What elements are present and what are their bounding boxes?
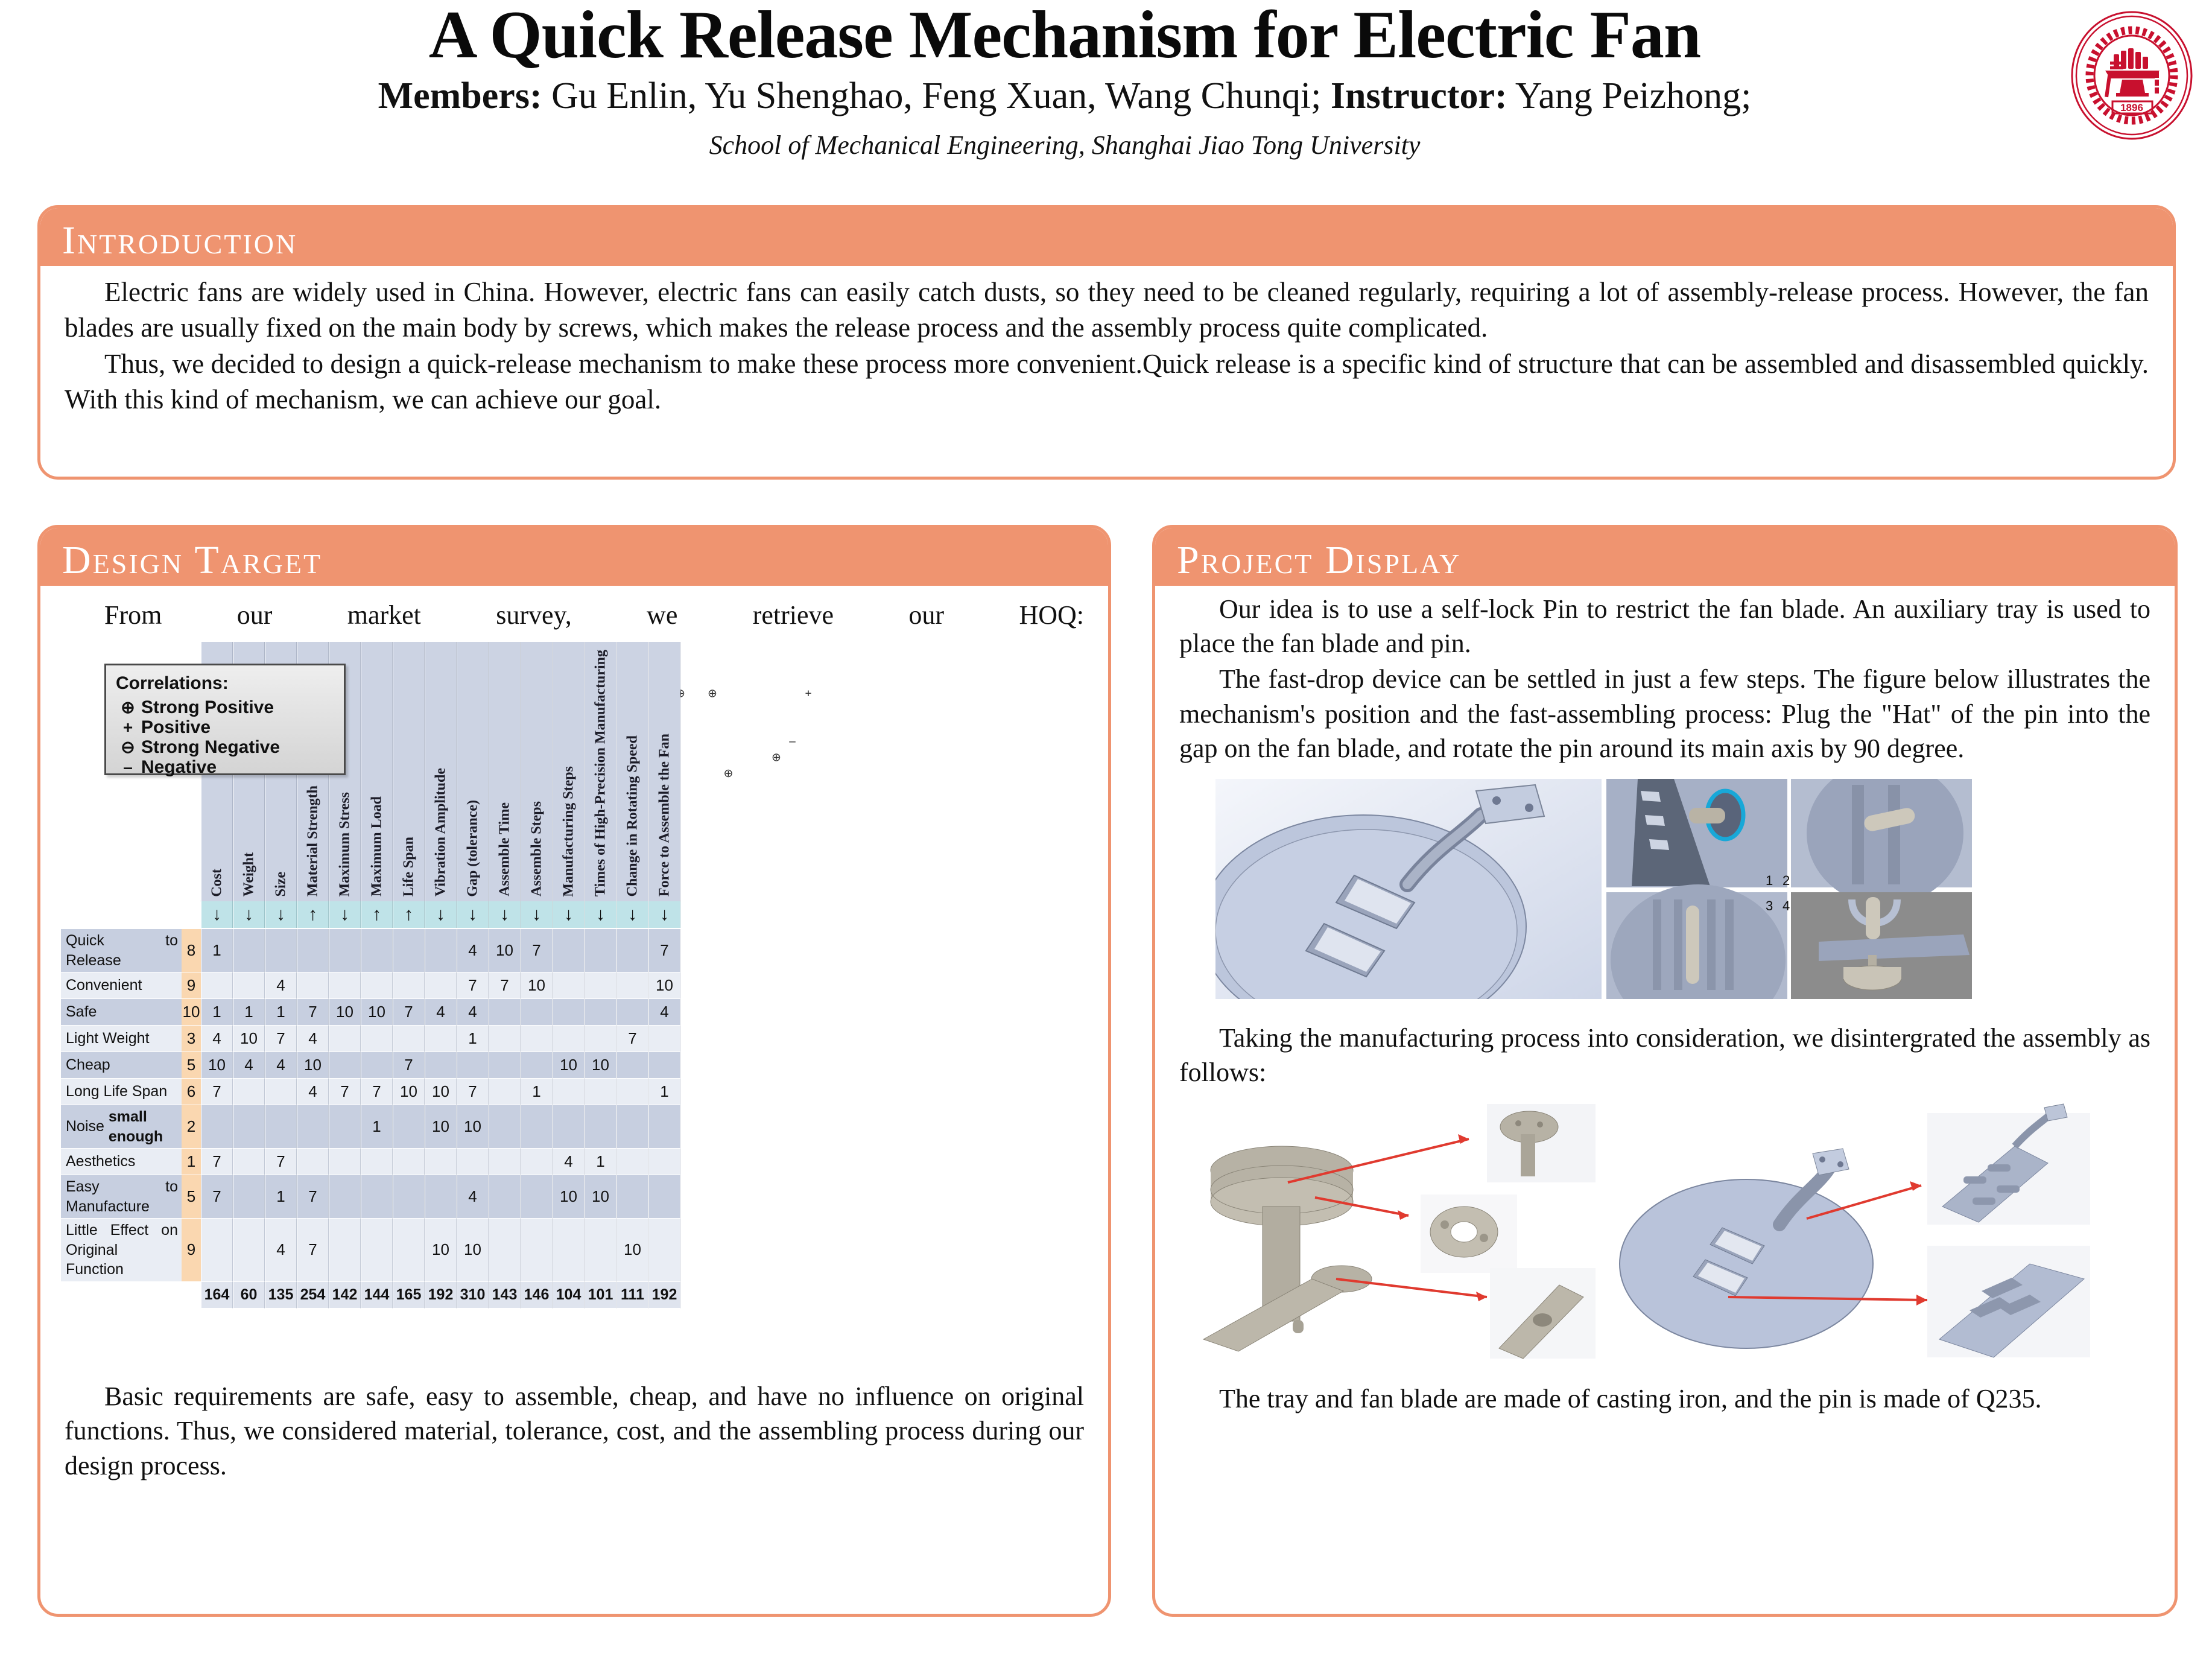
project-display-mid-wrap: Taking the manufacturing process into co…: [1179, 1021, 2150, 1090]
hoq-cell: 1: [265, 1175, 297, 1219]
hoq-cell: 10: [585, 1175, 616, 1219]
hoq-row: Long Life Span674771010711: [61, 1079, 1080, 1105]
hoq-direction-arrow: ↓: [521, 901, 553, 928]
house-of-quality-chart: Correlations: ⊕ Strong Positive + Positi…: [61, 633, 1080, 1375]
legend-item-strong-positive: ⊕ Strong Positive: [115, 697, 344, 717]
hoq-cell: [648, 1052, 680, 1079]
hoq-cell: 10: [553, 1052, 585, 1079]
hoq-row: Little Effect on Original Function947101…: [61, 1219, 1080, 1282]
hoq-cell: [425, 972, 457, 999]
hoq-row: Easy to Manufacture571741010: [61, 1175, 1080, 1219]
design-target-title: Design Target: [62, 538, 322, 583]
hoq-column-header-label: Assemble Steps: [527, 801, 546, 896]
hoq-column-header-label: Cost: [208, 869, 226, 897]
hoq-column-header: Maximum Load: [361, 642, 393, 901]
hoq-cell: [521, 1026, 553, 1052]
hoq-row-weight: 8: [182, 929, 201, 972]
hoq-column-header-label: Life Span: [399, 837, 418, 896]
step-label-4: 4: [1783, 898, 1790, 913]
hoq-cell: [648, 1175, 680, 1219]
hoq-row-label: Safe: [61, 999, 182, 1026]
hoq-column-header-label: Maximum Stress: [335, 792, 354, 897]
hoq-column-header-label: Assemble Time: [495, 802, 514, 896]
hoq-cell: [297, 1105, 329, 1149]
hoq-cell: 10: [457, 1105, 489, 1149]
hoq-cell: 7: [201, 1079, 233, 1105]
hoq-cell: 7: [201, 1175, 233, 1219]
hoq-direction-arrow: ↓: [265, 901, 297, 928]
hoq-cell: [616, 999, 648, 1026]
hoq-total-cell: 164: [201, 1282, 233, 1308]
hoq-cell: [425, 929, 457, 972]
hoq-cell: [425, 1052, 457, 1079]
hoq-cell: [489, 1149, 521, 1175]
hoq-column-header-label: Weight: [239, 852, 258, 896]
hoq-column-header-label: Manufacturing Steps: [559, 766, 578, 897]
hoq-cell: [393, 1026, 425, 1052]
hoq-cell: [489, 1026, 521, 1052]
hoq-direction-arrow: ↓: [457, 901, 489, 928]
hoq-cell: [585, 972, 616, 999]
hoq-cell: [329, 1026, 361, 1052]
hoq-direction-arrows: ↓↓↓↑↓↑↑↓↓↓↓↓↓↓↓: [201, 901, 680, 928]
hoq-cell: [393, 1175, 425, 1219]
introduction-title: Introduction: [62, 218, 297, 264]
hoq-totals-row: 1646013525414214416519231014314610410111…: [61, 1282, 1080, 1308]
hoq-cell: 10: [233, 1026, 265, 1052]
hoq-cell: 4: [265, 1219, 297, 1282]
hoq-cell: 1: [265, 999, 297, 1026]
hoq-cell: 10: [297, 1052, 329, 1079]
project-display-panel: Project Display Our idea is to use a sel…: [1152, 525, 2178, 1617]
members-names: Gu Enlin, Yu Shenghao, Feng Xuan, Wang C…: [551, 75, 1321, 116]
hoq-cell: [393, 1105, 425, 1149]
hoq-cell: 7: [297, 1175, 329, 1219]
hoq-cell: [233, 1079, 265, 1105]
hoq-cell: 4: [201, 1026, 233, 1052]
hoq-cell: [521, 999, 553, 1026]
members-label: Members:: [378, 75, 542, 116]
hoq-row-weight: 9: [182, 1219, 201, 1282]
hoq-row-label: Light Weight: [61, 1026, 182, 1052]
hoq-cell: [489, 1105, 521, 1149]
hoq-cell: 7: [329, 1079, 361, 1105]
hoq-cell: 7: [297, 1219, 329, 1282]
hoq-direction-arrow: ↓: [648, 901, 680, 928]
hoq-cell: [585, 1219, 616, 1282]
hoq-cell: [585, 999, 616, 1026]
hoq-row: Aesthetics17741: [61, 1149, 1080, 1175]
hoq-row-label: Aesthetics: [61, 1149, 182, 1175]
hoq-cell: [585, 1026, 616, 1052]
hoq-cell: 4: [457, 1175, 489, 1219]
hoq-column-header: Vibration Amplitude: [425, 642, 457, 901]
hoq-cell: 10: [521, 972, 553, 999]
hoq-cell: 7: [297, 999, 329, 1026]
hoq-cell: 7: [393, 1052, 425, 1079]
hoq-row-weight: 1: [182, 1149, 201, 1175]
hoq-column-header: Manufacturing Steps: [553, 642, 585, 901]
hoq-column-header-label: Change in Rotating Speed: [623, 735, 642, 896]
hoq-direction-arrow: ↓: [616, 901, 648, 928]
hoq-row-weight: 2: [182, 1105, 201, 1149]
project-display-closing-wrap: The tray and fan blade are made of casti…: [1179, 1381, 2150, 1416]
hoq-cell: 10: [329, 999, 361, 1026]
instructor-label: Instructor:: [1331, 75, 1507, 116]
project-display-paragraph-1: Our idea is to use a self-lock Pin to re…: [1179, 592, 2150, 661]
introduction-paragraph-1: Electric fans are widely used in China. …: [65, 274, 2149, 345]
hoq-total-cell: 143: [489, 1282, 521, 1308]
hoq-cell: [233, 929, 265, 972]
hoq-total-cell: 192: [425, 1282, 457, 1308]
hoq-cell: 10: [489, 929, 521, 972]
hoq-cell: [393, 1219, 425, 1282]
hoq-row: Convenient94771010: [61, 972, 1080, 999]
hoq-column-header-label: Force to Assemble the Fan: [655, 734, 674, 896]
hoq-cell: [201, 972, 233, 999]
hoq-cell: [616, 929, 648, 972]
hoq-cell: [265, 1105, 297, 1149]
hoq-cell: [425, 1175, 457, 1219]
hoq-cell: [361, 972, 393, 999]
hoq-cell: [265, 1079, 297, 1105]
hoq-totals-spacer: [61, 1282, 182, 1308]
hoq-cell: [521, 1149, 553, 1175]
hoq-cell: [616, 1052, 648, 1079]
hoq-total-cell: 310: [457, 1282, 489, 1308]
hoq-column-header-label: Times of High-Precision Manufacturing: [591, 650, 610, 896]
legend-title: Correlations:: [116, 671, 344, 695]
hoq-column-header-label: Maximum Load: [367, 796, 386, 896]
hoq-column-header: Assemble Time: [489, 642, 521, 901]
hoq-total-cell: 104: [553, 1282, 585, 1308]
hoq-cell: [489, 1219, 521, 1282]
hoq-cell: 4: [457, 929, 489, 972]
hoq-row-label: Noise small enough: [61, 1105, 182, 1149]
design-target-body: From our market survey, we retrieve our …: [40, 586, 1108, 1492]
hoq-cell: 10: [585, 1052, 616, 1079]
hoq-column-header-label: Material Strength: [303, 785, 322, 896]
hoq-row-weight: 10: [182, 999, 201, 1026]
hoq-total-cell: 146: [521, 1282, 553, 1308]
design-target-header: Design Target: [40, 528, 1108, 586]
hoq-cell: 4: [648, 999, 680, 1026]
design-target-intro: From our market survey, we retrieve our …: [65, 598, 1084, 632]
hoq-cell: [616, 1079, 648, 1105]
hoq-cell: 4: [265, 1052, 297, 1079]
hoq-total-cell: 192: [648, 1282, 680, 1308]
design-target-panel: Design Target From our market survey, we…: [37, 525, 1111, 1617]
introduction-panel: Introduction Electric fans are widely us…: [37, 205, 2176, 480]
hoq-cell: [489, 1052, 521, 1079]
hoq-total-cell: 135: [265, 1282, 297, 1308]
hoq-cell: 1: [361, 1105, 393, 1149]
hoq-cell: [393, 929, 425, 972]
hoq-cell: 10: [457, 1219, 489, 1282]
hoq-cell: [553, 1079, 585, 1105]
hoq-cell: [329, 1052, 361, 1079]
hoq-cell: [393, 1149, 425, 1175]
hoq-cell: 4: [265, 972, 297, 999]
hoq-direction-arrow: ↑: [361, 901, 393, 928]
figure-panel-d: [1606, 884, 1787, 999]
hoq-cell: [521, 1219, 553, 1282]
hoq-cell: [521, 1105, 553, 1149]
hoq-cell: 1: [521, 1079, 553, 1105]
legend-label: Negative: [141, 755, 217, 779]
hoq-row-label: Little Effect on Original Function: [61, 1219, 182, 1282]
instructor-name: Yang Peizhong;: [1515, 75, 1752, 116]
hoq-row-label: Quick to Release: [61, 929, 182, 972]
hoq-cell: 4: [233, 1052, 265, 1079]
hoq-cell: 10: [425, 1105, 457, 1149]
hoq-cell: [329, 1175, 361, 1219]
hoq-row-weight: 6: [182, 1079, 201, 1105]
hoq-row: Safe10111710107444: [61, 999, 1080, 1026]
affiliation: School of Mechanical Engineering, Shangh…: [0, 130, 2129, 160]
hoq-cell: [521, 1175, 553, 1219]
hoq-cell: 7: [361, 1079, 393, 1105]
hoq-cell: 10: [425, 1219, 457, 1282]
hoq-cell: 10: [616, 1219, 648, 1282]
hoq-cell: [329, 1149, 361, 1175]
hoq-total-cell: 111: [616, 1282, 648, 1308]
correlations-legend: Correlations: ⊕ Strong Positive + Positi…: [104, 664, 346, 775]
hoq-row-label: Cheap: [61, 1052, 182, 1079]
hoq-cell: [553, 929, 585, 972]
hoq-cell: [233, 1105, 265, 1149]
hoq-cell: 4: [553, 1149, 585, 1175]
hoq-column-header: Gap (tolerance): [457, 642, 489, 901]
hoq-cell: [201, 1105, 233, 1149]
project-display-title: Project Display: [1177, 538, 1461, 583]
hoq-correlation-symbol: ⊕: [772, 752, 781, 764]
assembly-right-group: [1620, 1098, 2150, 1363]
hoq-cell: [648, 1219, 680, 1282]
hoq-cell: [393, 972, 425, 999]
hoq-cell: 7: [393, 999, 425, 1026]
hoq-cell: [489, 999, 521, 1026]
hoq-direction-arrow: ↓: [329, 901, 361, 928]
hoq-cell: [585, 1079, 616, 1105]
hoq-cell: [616, 1175, 648, 1219]
hoq-cell: [361, 1052, 393, 1079]
project-display-closing: The tray and fan blade are made of casti…: [1179, 1381, 2150, 1416]
disintegrated-assembly-figure: [1185, 1098, 2150, 1363]
hoq-cell: 7: [616, 1026, 648, 1052]
hoq-cell: 1: [585, 1149, 616, 1175]
hoq-total-cell: 254: [297, 1282, 329, 1308]
hoq-row-weight: 5: [182, 1175, 201, 1219]
hoq-cell: 7: [265, 1149, 297, 1175]
hoq-cell: 1: [457, 1026, 489, 1052]
hoq-direction-arrow: ↓: [425, 901, 457, 928]
hoq-cell: [489, 1079, 521, 1105]
hoq-cell: [457, 1149, 489, 1175]
hoq-column-header: Life Span: [393, 642, 425, 901]
hoq-cell: [233, 972, 265, 999]
hoq-correlation-symbol: ⊕: [708, 688, 717, 700]
hoq-cell: 4: [457, 999, 489, 1026]
hoq-cell: [361, 1219, 393, 1282]
hoq-direction-arrow: ↓: [585, 901, 616, 928]
hoq-column-header-label: Size: [271, 872, 290, 896]
hoq-cell: [361, 1175, 393, 1219]
hoq-row-weight: 5: [182, 1052, 201, 1079]
hoq-cell: [648, 1149, 680, 1175]
strong-positive-icon: ⊕: [115, 697, 141, 718]
hoq-cell: [457, 1052, 489, 1079]
hoq-cell: 7: [521, 929, 553, 972]
hoq-cell: [201, 1219, 233, 1282]
step-label-1: 1: [1766, 873, 1773, 888]
project-display-header: Project Display: [1155, 528, 2175, 586]
hoq-cell: 1: [201, 929, 233, 972]
hoq-direction-arrow: ↓: [553, 901, 585, 928]
hoq-cell: 1: [201, 999, 233, 1026]
design-target-closing-wrap: Basic requirements are safe, easy to ass…: [65, 1379, 1084, 1483]
hoq-totals-spacer-weight: [182, 1282, 201, 1308]
project-display-paragraph-2: The fast-drop device can be settled in j…: [1179, 662, 2150, 766]
step-label-3: 3: [1766, 898, 1773, 913]
project-display-body: Our idea is to use a self-lock Pin to re…: [1155, 586, 2175, 1426]
hoq-cell: [297, 972, 329, 999]
hoq-cell: [553, 999, 585, 1026]
hoq-total-cell: 60: [233, 1282, 265, 1308]
hoq-row-label: Long Life Span: [61, 1079, 182, 1105]
figure-panel-a: [1215, 779, 1602, 999]
hoq-cell: 4: [425, 999, 457, 1026]
hoq-cell: 7: [648, 929, 680, 972]
hoq-row-label: Convenient: [61, 972, 182, 999]
hoq-row: Quick to Release8141077: [61, 929, 1080, 972]
hoq-direction-arrow: ↑: [297, 901, 329, 928]
assembly-left-group: [1191, 1098, 1626, 1363]
hoq-row-label: Easy to Manufacture: [61, 1175, 182, 1219]
hoq-cell: [425, 1149, 457, 1175]
hoq-total-cell: 142: [329, 1282, 361, 1308]
hoq-column-header: Assemble Steps: [521, 642, 553, 901]
hoq-column-header: Change in Rotating Speed: [616, 642, 648, 901]
legend-item-positive: + Positive: [115, 717, 344, 737]
figure-panel-e: [1791, 892, 1972, 999]
hoq-cell: [233, 1175, 265, 1219]
introduction-paragraph-2: Thus, we decided to design a quick-relea…: [65, 346, 2149, 417]
hoq-direction-arrow: ↓: [489, 901, 521, 928]
hoq-column-header-label: Gap (tolerance): [463, 800, 482, 897]
figure-panel-c: [1791, 779, 1972, 906]
hoq-correlation-symbol: ⊕: [724, 767, 734, 780]
negative-icon: –: [115, 757, 141, 778]
hoq-column-header: Times of High-Precision Manufacturing: [585, 642, 616, 901]
hoq-cell: [553, 1219, 585, 1282]
step-label-2: 2: [1783, 873, 1790, 888]
hoq-cell: 4: [297, 1026, 329, 1052]
hoq-cell: [616, 972, 648, 999]
hoq-cell: 7: [457, 972, 489, 999]
hoq-cell: [553, 1026, 585, 1052]
hoq-cell: [648, 1105, 680, 1149]
hoq-row: Light Weight34107417: [61, 1026, 1080, 1052]
authors-line: Members: Gu Enlin, Yu Shenghao, Feng Xua…: [0, 75, 2129, 116]
hoq-cell: 10: [361, 999, 393, 1026]
positive-icon: +: [115, 717, 141, 738]
hoq-cell: [297, 929, 329, 972]
hoq-cell: [425, 1026, 457, 1052]
hoq-correlation-symbol: –: [789, 735, 796, 748]
hoq-cell: [297, 1149, 329, 1175]
hoq-cell: 10: [425, 1079, 457, 1105]
strong-negative-icon: ⊖: [115, 737, 141, 758]
hoq-correlation-symbol: +: [805, 688, 811, 700]
hoq-cell: 10: [648, 972, 680, 999]
hoq-cell: 10: [393, 1079, 425, 1105]
hoq-cell: [553, 972, 585, 999]
hoq-total-cell: 144: [361, 1282, 393, 1308]
hoq-cell: [616, 1149, 648, 1175]
legend-item-strong-negative: ⊖ Strong Negative: [115, 737, 344, 757]
hoq-cell: [329, 1219, 361, 1282]
hoq-cell: [233, 1219, 265, 1282]
page-title: A Quick Release Mechanism for Electric F…: [0, 0, 2129, 74]
hoq-cell: [521, 1052, 553, 1079]
hoq-row: Cheap510441071010: [61, 1052, 1080, 1079]
hoq-cell: [361, 929, 393, 972]
hoq-cell: [648, 1026, 680, 1052]
university-logo-icon: 1896: [2070, 11, 2194, 141]
hoq-cell: [329, 972, 361, 999]
hoq-cell: [553, 1105, 585, 1149]
hoq-cell: [329, 929, 361, 972]
hoq-cell: [585, 929, 616, 972]
poster-header: A Quick Release Mechanism for Electric F…: [0, 0, 2212, 181]
hoq-matrix-rows: Quick to Release8141077Convenient9477101…: [61, 929, 1080, 1308]
hoq-cell: 1: [648, 1079, 680, 1105]
design-target-closing: Basic requirements are safe, easy to ass…: [65, 1379, 1084, 1483]
hoq-column-header-label: Vibration Amplitude: [431, 768, 450, 896]
hoq-cell: 4: [297, 1079, 329, 1105]
hoq-cell: 7: [457, 1079, 489, 1105]
project-display-mid-paragraph: Taking the manufacturing process into co…: [1179, 1021, 2150, 1090]
figure-panel-b: [1606, 779, 1787, 887]
hoq-cell: 7: [265, 1026, 297, 1052]
logo-year: 1896: [2120, 102, 2143, 113]
hoq-cell: [265, 929, 297, 972]
hoq-total-cell: 165: [393, 1282, 425, 1308]
hoq-cell: [585, 1105, 616, 1149]
hoq-direction-arrow: ↑: [393, 901, 425, 928]
hoq-cell: 10: [201, 1052, 233, 1079]
hoq-cell: [489, 1175, 521, 1219]
hoq-row-weight: 9: [182, 972, 201, 999]
hoq-cell: [329, 1105, 361, 1149]
legend-item-negative: – Negative: [115, 757, 344, 777]
hoq-cell: [361, 1026, 393, 1052]
hoq-direction-arrow: ↓: [201, 901, 233, 928]
hoq-total-cell: 101: [585, 1282, 616, 1308]
hoq-cell: 7: [201, 1149, 233, 1175]
hoq-row: Noise small enough211010: [61, 1105, 1080, 1149]
mechanism-assembly-figure: 1 2 3 4: [1215, 779, 2090, 999]
hoq-cell: 1: [233, 999, 265, 1026]
hoq-cell: 10: [553, 1175, 585, 1219]
hoq-direction-arrow: ↓: [233, 901, 265, 928]
introduction-body: Electric fans are widely used in China. …: [40, 266, 2173, 428]
introduction-header: Introduction: [40, 208, 2173, 266]
hoq-row-weight: 3: [182, 1026, 201, 1052]
hoq-cell: [616, 1105, 648, 1149]
hoq-cell: 7: [489, 972, 521, 999]
